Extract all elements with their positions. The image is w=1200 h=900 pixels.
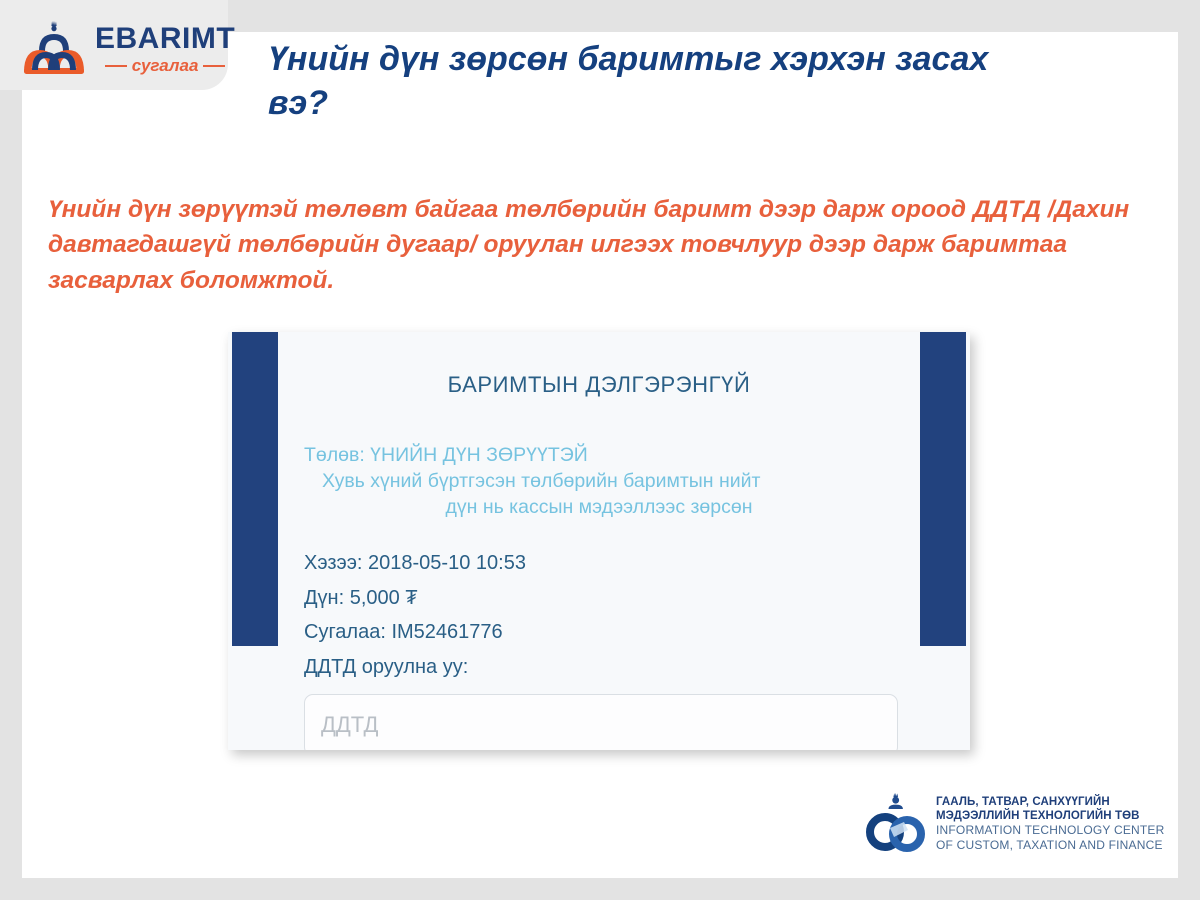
receipt-title: БАРИМТЫН ДЭЛГЭРЭНГҮЙ	[304, 372, 894, 398]
receipt-detail-card: БАРИМТЫН ДЭЛГЭРЭНГҮЙ Төлөв: ҮНИЙН ДҮН ЗӨ…	[228, 332, 970, 750]
receipt-status-block: Төлөв: ҮНИЙН ДҮН ЗӨРҮҮТЭЙ Хувь хүний бүр…	[304, 442, 894, 520]
field-label-lottery: Сугалаа:	[304, 621, 386, 643]
itc-footer-text: ГААЛЬ, ТАТВАР, САНХҮҮГИЙН МЭДЭЭЛЛИЙН ТЕХ…	[936, 796, 1165, 851]
field-value-date: 2018-05-10 10:53	[368, 552, 526, 574]
field-label-date: Хэзээ:	[304, 552, 362, 574]
brand-wordmark: EBARIMT сугалаа	[95, 24, 235, 74]
field-row-date: Хэзээ: 2018-05-10 10:53	[304, 546, 894, 580]
ddtd-input[interactable]	[304, 694, 898, 750]
brand-rule-right	[203, 65, 225, 67]
ebarimt-logo: EBARIMT сугалаа	[22, 16, 222, 82]
itc-name-en-line2: OF CUSTOM, TAXATION AND FINANCE	[936, 838, 1165, 852]
slide-root: EBARIMT сугалаа Үнийн дүн зөрсөн баримты…	[0, 0, 1200, 900]
ddtd-input-label: ДДТД оруулна уу:	[304, 650, 894, 684]
field-value-lottery: IM52461776	[391, 621, 502, 643]
field-value-amount: 5,000 ₮	[350, 587, 418, 609]
itc-interlocking-rings-logo-icon	[866, 792, 926, 856]
receipt-status-detail-1: Хувь хүний бүртгэсэн төлбөрийн баримтын …	[304, 468, 894, 494]
itc-name-mn-line2: МЭДЭЭЛЛИЙН ТЕХНОЛОГИЙН ТӨВ	[936, 810, 1165, 824]
receipt-status-label: Төлөв: ҮНИЙН ДҮН ЗӨРҮҮТЭЙ	[304, 442, 894, 468]
receipt-field-list: Хэзээ: 2018-05-10 10:53 Дүн: 5,000 ₮ Суг…	[304, 546, 894, 684]
itc-name-en-line1: INFORMATION TECHNOLOGY CENTER	[936, 823, 1165, 837]
field-label-amount: Дүн:	[304, 587, 344, 609]
brand-tagline: сугалаа	[132, 57, 199, 74]
itc-footer-logo: ГААЛЬ, ТАТВАР, САНХҮҮГИЙН МЭДЭЭЛЛИЙН ТЕХ…	[866, 786, 1166, 862]
ddtd-input-wrapper	[304, 694, 894, 750]
ebarimt-arch-logo-icon	[22, 20, 86, 78]
itc-name-mn-line1: ГААЛЬ, ТАТВАР, САНХҮҮГИЙН	[936, 796, 1165, 810]
receipt-status-detail-2: дүн нь кассын мэдээллээс зөрсөн	[304, 494, 894, 520]
field-row-lottery: Сугалаа: IM52461776	[304, 615, 894, 649]
brand-name: EBARIMT	[95, 24, 235, 54]
instruction-text: Үнийн дүн зөрүүтэй төлөвт байгаа төлбөри…	[48, 192, 1138, 298]
page-title: Үнийн дүн зөрсөн баримтыг хэрхэн засах в…	[268, 38, 1028, 125]
brand-rule-left	[105, 65, 127, 67]
field-row-amount: Дүн: 5,000 ₮	[304, 581, 894, 615]
